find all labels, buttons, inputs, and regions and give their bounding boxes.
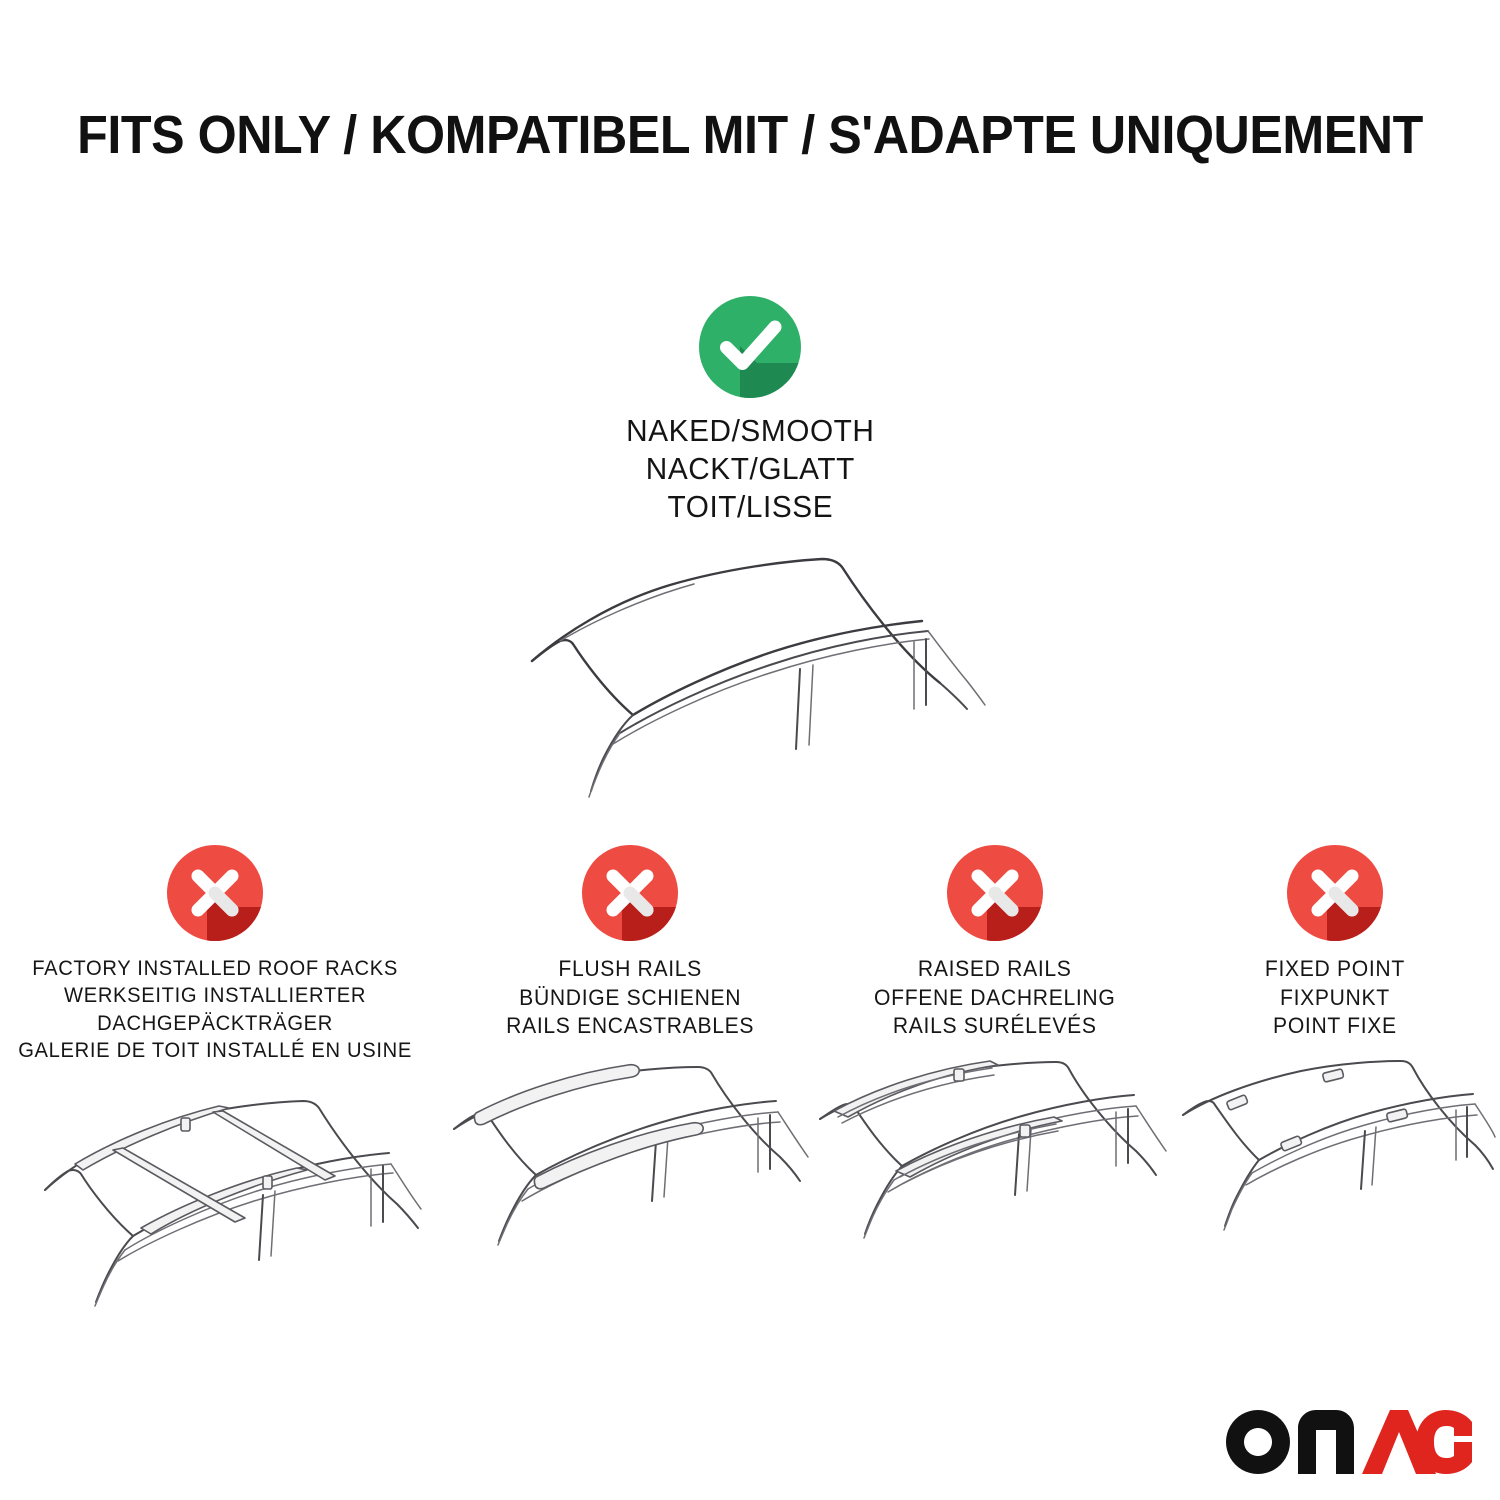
incompatible-label-factory-roof-racks: FACTORY INSTALLED ROOF RACKS WERKSEITIG …	[18, 955, 412, 1064]
incompatible-label-fixed-point: FIXED POINT FIXPUNKT POINT FIXE	[1265, 955, 1405, 1041]
label-line-3: RAILS ENCASTRABLES	[506, 1012, 754, 1041]
incompatible-item-raised-rails: RAISED RAILS OFFENE DACHRELING RAILS SUR…	[820, 845, 1170, 1287]
compatible-label-line-1: NAKED/SMOOTH	[626, 412, 874, 450]
incompatible-label-flush-rails: FLUSH RAILS BÜNDIGE SCHIENEN RAILS ENCAS…	[506, 955, 754, 1041]
x-circle-icon	[167, 845, 263, 941]
compatible-label: NAKED/SMOOTH NACKT/GLATT TOIT/LISSE	[626, 412, 874, 525]
label-line-1: FLUSH RAILS	[506, 955, 754, 984]
label-line-3: POINT FIXE	[1265, 1012, 1405, 1041]
label-line-1: FIXED POINT	[1265, 955, 1405, 984]
label-line-1: FACTORY INSTALLED ROOF RACKS	[18, 955, 412, 982]
x-circle-icon	[947, 845, 1043, 941]
omac-logo: OMAC	[1222, 1406, 1472, 1478]
label-line-1: RAISED RAILS	[874, 955, 1115, 984]
car-roof-with-fixed-points-illustration	[1175, 1057, 1495, 1287]
page-title: FITS ONLY / KOMPATIBEL MIT / S'ADAPTE UN…	[53, 104, 1448, 166]
x-circle-icon	[1287, 845, 1383, 941]
label-line-3: DACHGEPÄCKTRÄGER	[18, 1010, 412, 1037]
bare-smooth-car-roof-illustration	[470, 543, 1030, 803]
label-line-4: GALERIE DE TOIT INSTALLÉ EN USINE	[18, 1037, 412, 1064]
incompatible-section: FACTORY INSTALLED ROOF RACKS WERKSEITIG …	[0, 845, 1500, 1310]
compatible-label-line-3: TOIT/LISSE	[626, 488, 874, 526]
label-line-2: WERKSEITIG INSTALLIERTER	[18, 982, 412, 1009]
car-roof-with-flush-rails-illustration	[440, 1057, 820, 1287]
incompatible-label-raised-rails: RAISED RAILS OFFENE DACHRELING RAILS SUR…	[874, 955, 1115, 1041]
incompatible-item-fixed-point: FIXED POINT FIXPUNKT POINT FIXE	[1185, 845, 1485, 1287]
label-line-2: FIXPUNKT	[1265, 984, 1405, 1013]
label-line-2: OFFENE DACHRELING	[874, 984, 1115, 1013]
label-line-3: RAILS SURÉLEVÉS	[874, 1012, 1115, 1041]
incompatible-item-factory-roof-racks: FACTORY INSTALLED ROOF RACKS WERKSEITIG …	[0, 845, 430, 1310]
car-roof-with-raised-rails-illustration	[808, 1057, 1183, 1287]
x-circle-icon	[582, 845, 678, 941]
compatible-section: NAKED/SMOOTH NACKT/GLATT TOIT/LISSE	[0, 296, 1500, 803]
label-line-2: BÜNDIGE SCHIENEN	[506, 984, 754, 1013]
car-roof-with-factory-rack-illustration	[5, 1080, 425, 1310]
check-circle-icon	[699, 296, 801, 398]
incompatible-item-flush-rails: FLUSH RAILS BÜNDIGE SCHIENEN RAILS ENCAS…	[445, 845, 815, 1287]
compatible-label-line-2: NACKT/GLATT	[626, 450, 874, 488]
